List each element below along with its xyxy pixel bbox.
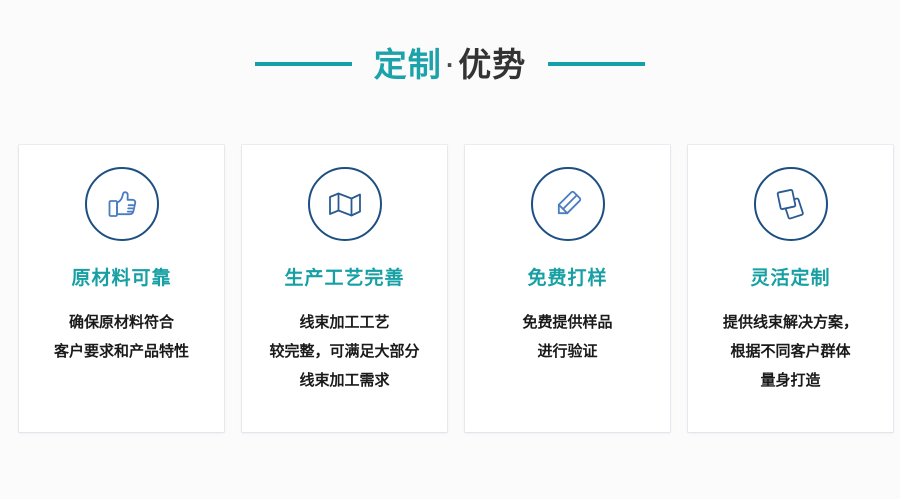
advantage-card[interactable]: 生产工艺完善 线束加工工艺 较完整，可满足大部分 线束加工需求 — [242, 145, 447, 432]
section-header-inner: 定制·优势 — [255, 48, 646, 81]
advantage-card-description: 线束加工工艺 较完整，可满足大部分 线束加工需求 — [252, 308, 437, 395]
advantage-card[interactable]: 免费打样 免费提供样品 进行验证 — [465, 145, 670, 432]
header-rule-right — [548, 62, 645, 66]
page-title: 定制·优势 — [374, 48, 527, 81]
advantage-card-description: 确保原材料符合 客户要求和产品特性 — [29, 308, 214, 366]
advantage-card[interactable]: 灵活定制 提供线束解决方案， 根据不同客户群体 量身打造 — [688, 145, 893, 432]
advantage-card[interactable]: 原材料可靠 确保原材料符合 客户要求和产品特性 — [19, 145, 224, 432]
advantage-card-description: 提供线束解决方案， 根据不同客户群体 量身打造 — [698, 308, 883, 395]
folded-map-icon — [308, 167, 382, 241]
thumbs-up-icon — [85, 167, 159, 241]
page-background: 定制·优势 原材料可靠 确保原材料符合 客户要求和产品特性 — [0, 0, 900, 499]
advantage-card-title: 免费打样 — [527, 269, 607, 288]
header-rule-left — [255, 62, 352, 66]
page-title-separator: · — [442, 53, 459, 77]
advantage-card-title: 生产工艺完善 — [284, 269, 404, 288]
advantage-card-title: 灵活定制 — [750, 269, 830, 288]
pencil-icon — [531, 167, 605, 241]
stacked-cards-icon — [754, 167, 828, 241]
advantage-card-title: 原材料可靠 — [71, 269, 171, 288]
advantage-card-list: 原材料可靠 确保原材料符合 客户要求和产品特性 生产工艺完善 线束加工工艺 较完… — [19, 145, 881, 432]
advantage-card-description: 免费提供样品 进行验证 — [475, 308, 660, 366]
section-header: 定制·优势 — [0, 0, 900, 118]
page-title-secondary: 优势 — [458, 45, 526, 84]
page-title-primary: 定制 — [374, 45, 442, 84]
